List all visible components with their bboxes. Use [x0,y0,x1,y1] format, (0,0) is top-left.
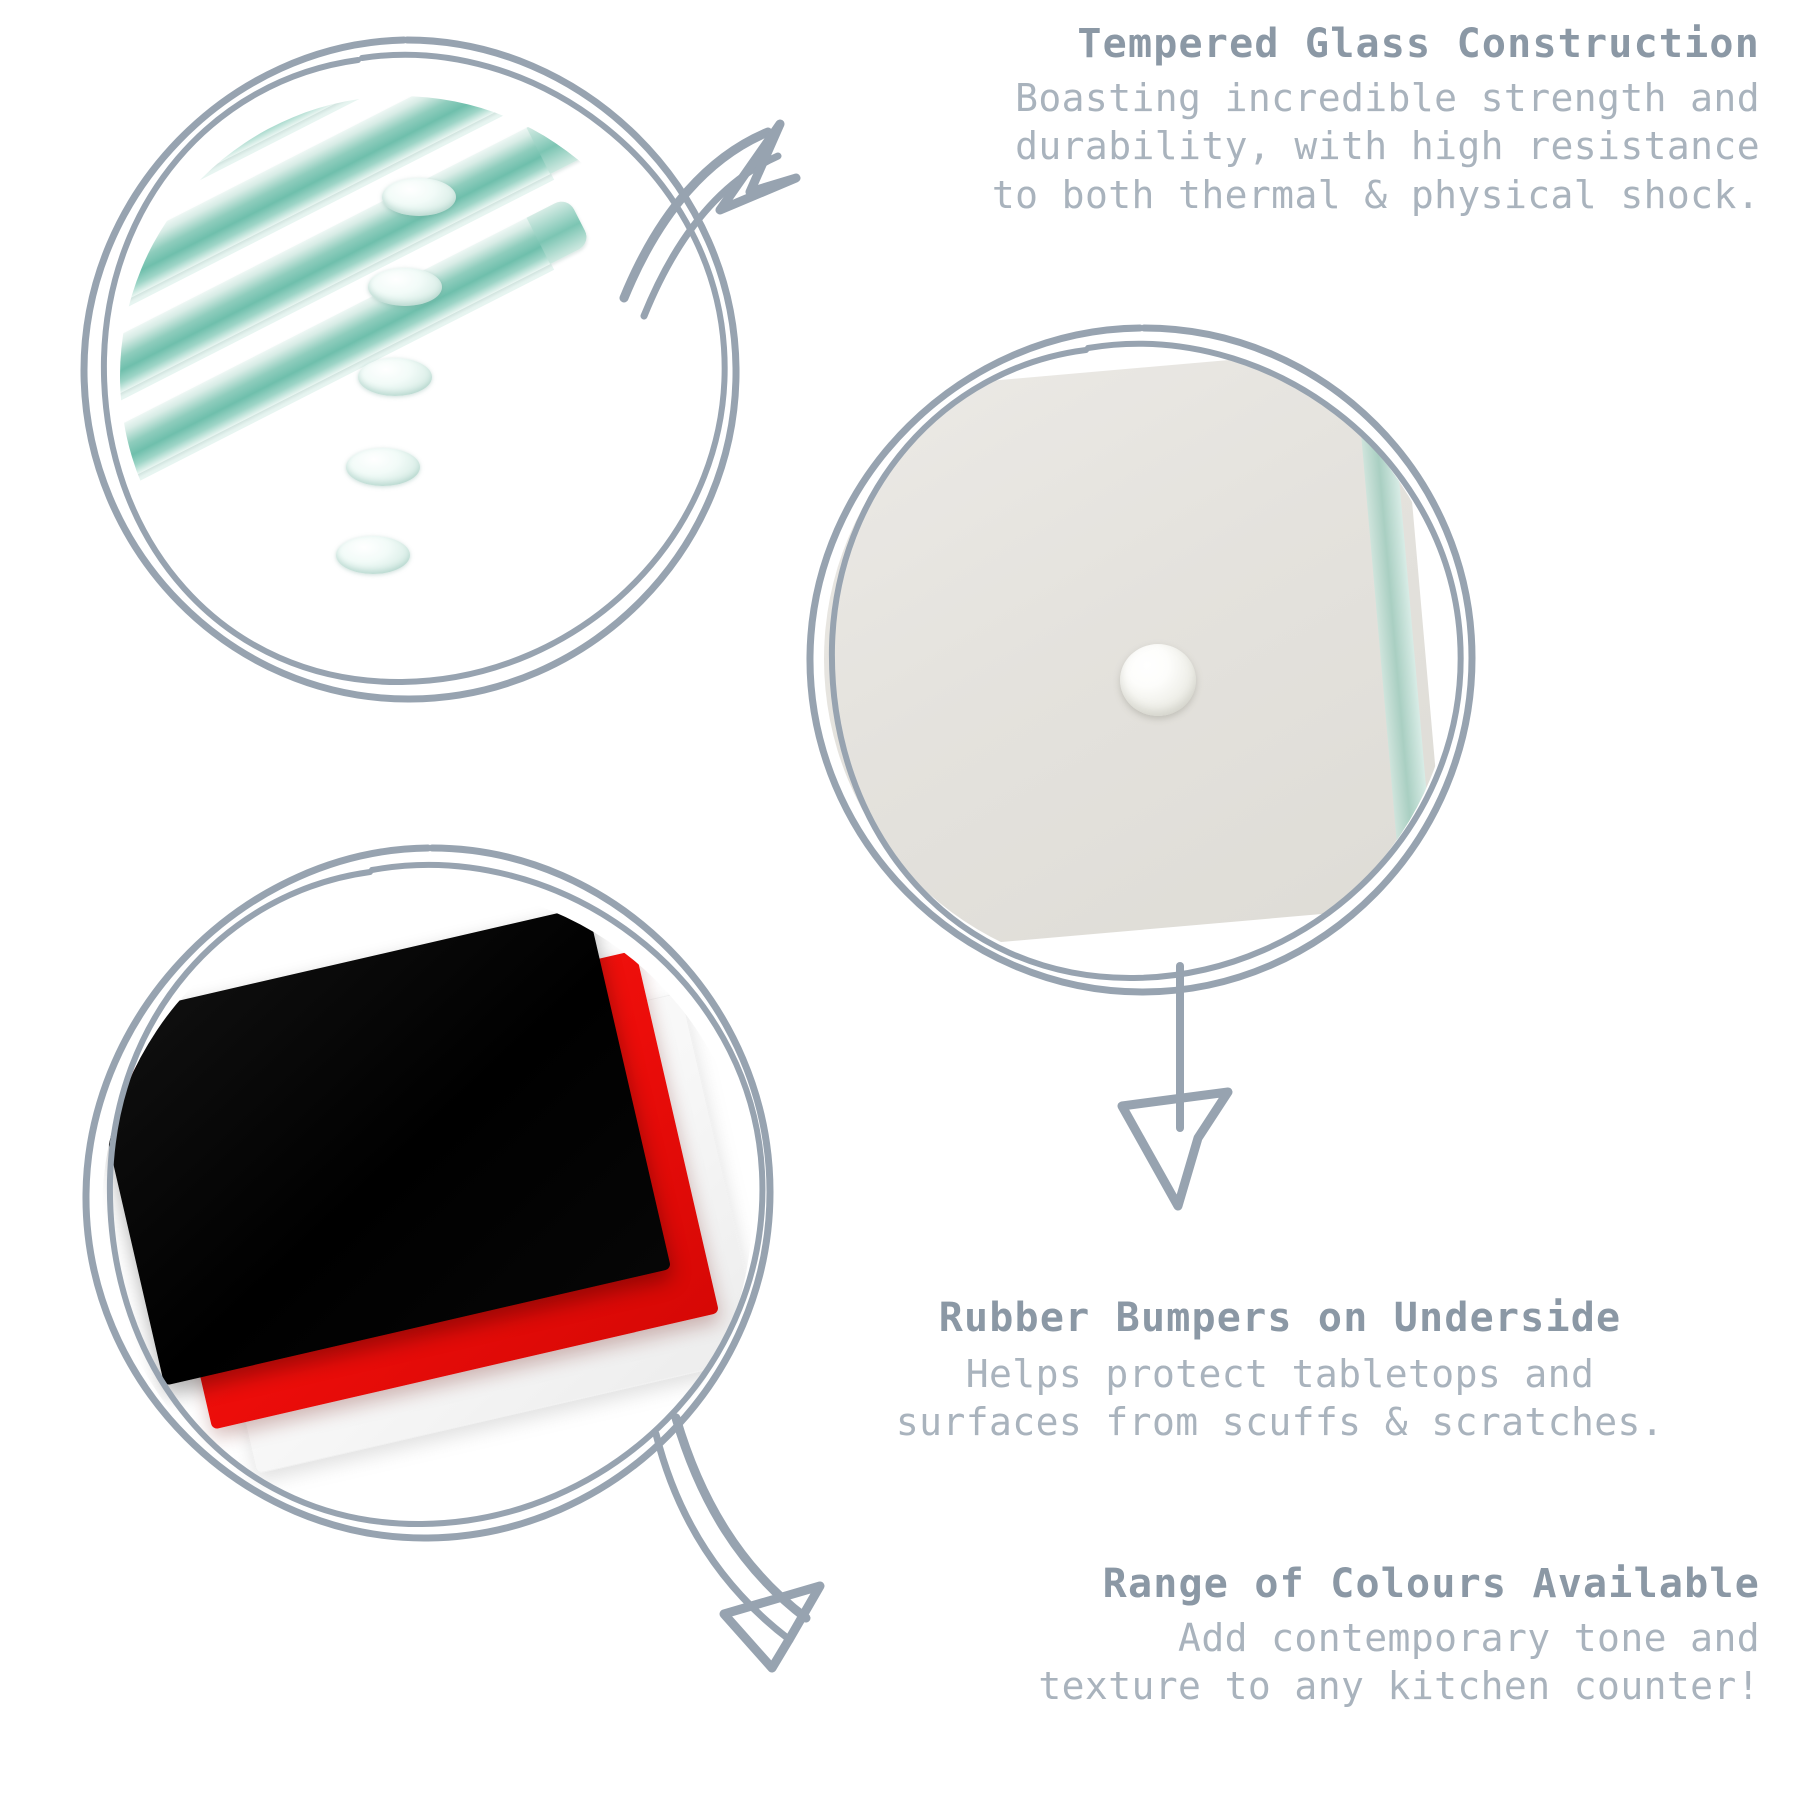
feature-text-tempered-glass: Tempered Glass Construction Boasting inc… [800,22,1760,219]
feature-body-line: Boasting incredible strength and [800,74,1760,123]
feature-body-line: Add contemporary tone and [790,1614,1760,1663]
feature-body-line: surfaces from scuffs & scratches. [780,1398,1780,1447]
feature-body-line: durability, with high resistance [800,122,1760,171]
feature-text-rubber-bumpers: Rubber Bumpers on Underside Helps protec… [780,1296,1780,1447]
feature-body-rubber-bumpers: Helps protect tabletops and surfaces fro… [780,1350,1780,1447]
arrow-bumper-to-rubber-text-icon [1060,960,1300,1220]
hand-drawn-circle-outline [788,310,1488,1010]
feature-title-tempered-glass: Tempered Glass Construction [800,22,1760,68]
feature-body-line: to both thermal & physical shock. [800,171,1760,220]
feature-title-rubber-bumpers: Rubber Bumpers on Underside [780,1296,1780,1342]
feature-body-tempered-glass: Boasting incredible strength and durabil… [800,74,1760,220]
feature-body-range-of-colours: Add contemporary tone and texture to any… [790,1614,1760,1711]
feature-image-rubber-bumpers [788,310,1488,1010]
feature-body-line: texture to any kitchen counter! [790,1662,1760,1711]
feature-title-range-of-colours: Range of Colours Available [790,1562,1760,1608]
infographic-canvas: Tempered Glass Construction Boasting inc… [0,0,1800,1800]
feature-text-range-of-colours: Range of Colours Available Add contempor… [790,1562,1760,1711]
feature-body-line: Helps protect tabletops and [780,1350,1780,1399]
